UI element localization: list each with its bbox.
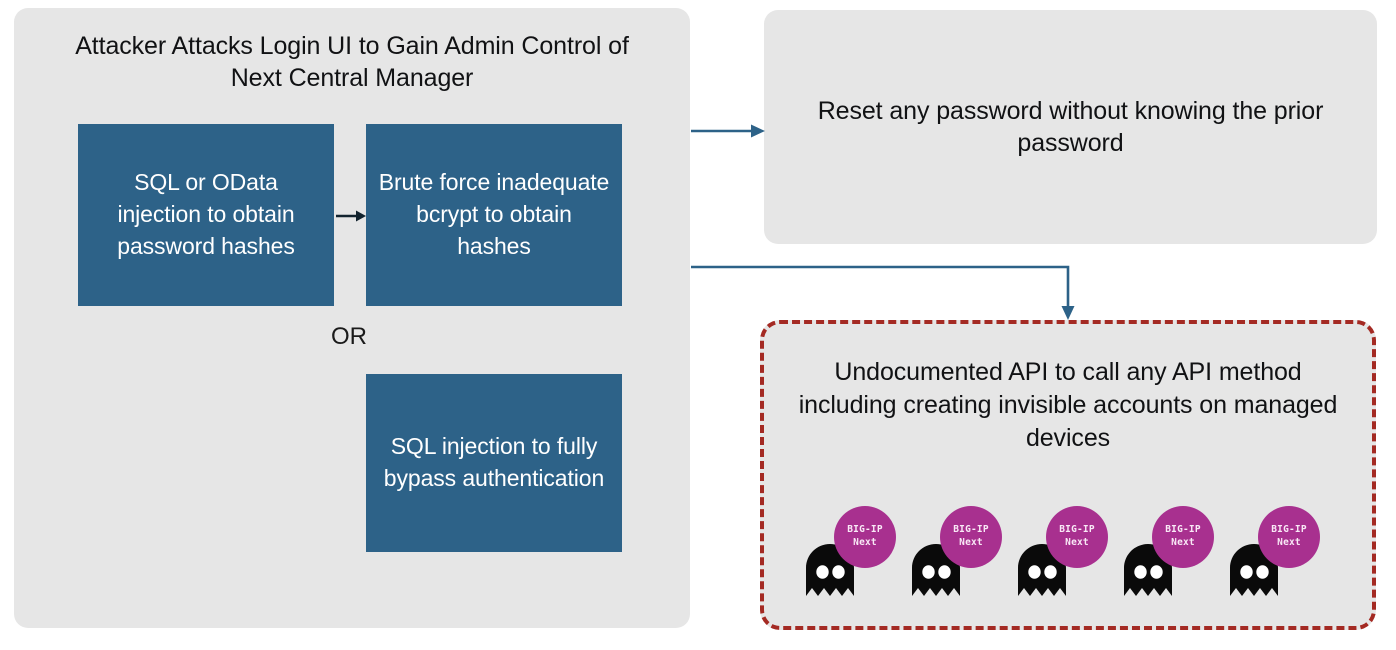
outcome-reset-password-text: Reset any password without knowing the p… (804, 10, 1337, 244)
outcome-undocumented-api-panel: Undocumented API to call any API method … (760, 320, 1376, 630)
connector-to-reset-password-icon (691, 125, 765, 138)
diagram-canvas: Attacker Attacks Login UI to Gain Admin … (0, 0, 1396, 650)
device-badge-big-ip-next: BIG-IP Next (1152, 506, 1214, 568)
device-badge-line1: BIG-IP (847, 524, 883, 537)
managed-device-item: BIG-IP Next (1018, 506, 1102, 596)
attacker-panel: Attacker Attacks Login UI to Gain Admin … (14, 8, 690, 628)
device-badge-line2: Next (1277, 537, 1301, 550)
device-badge-big-ip-next: BIG-IP Next (834, 506, 896, 568)
device-badge-line2: Next (1171, 537, 1195, 550)
managed-device-item: BIG-IP Next (806, 506, 890, 596)
managed-device-item: BIG-IP Next (1230, 506, 1314, 596)
connector-to-undocumented-api-icon (691, 267, 1075, 320)
attacker-panel-heading: Attacker Attacks Login UI to Gain Admin … (52, 30, 652, 94)
device-badge-big-ip-next: BIG-IP Next (940, 506, 1002, 568)
device-badge-line1: BIG-IP (953, 524, 989, 537)
box-brute-force-bcrypt: Brute force inadequate bcrypt to obtain … (366, 124, 622, 306)
device-badge-line2: Next (959, 537, 983, 550)
device-badge-big-ip-next: BIG-IP Next (1046, 506, 1108, 568)
device-badge-line2: Next (853, 537, 877, 550)
arrow-sql-to-bruteforce-icon (336, 208, 366, 224)
outcome-reset-password-panel: Reset any password without knowing the p… (764, 10, 1377, 244)
device-badge-big-ip-next: BIG-IP Next (1258, 506, 1320, 568)
managed-devices-row: BIG-IP Next BIG-IP Next (806, 506, 1346, 596)
or-label: OR (299, 323, 399, 351)
device-badge-line1: BIG-IP (1271, 524, 1307, 537)
box-sql-bypass-authentication: SQL injection to fully bypass authentica… (366, 374, 622, 552)
outcome-undocumented-api-text: Undocumented API to call any API method … (794, 356, 1342, 455)
device-badge-line2: Next (1065, 537, 1089, 550)
device-badge-line1: BIG-IP (1165, 524, 1201, 537)
managed-device-item: BIG-IP Next (912, 506, 996, 596)
device-badge-line1: BIG-IP (1059, 524, 1095, 537)
managed-device-item: BIG-IP Next (1124, 506, 1208, 596)
box-sql-odata-injection: SQL or OData injection to obtain passwor… (78, 124, 334, 306)
